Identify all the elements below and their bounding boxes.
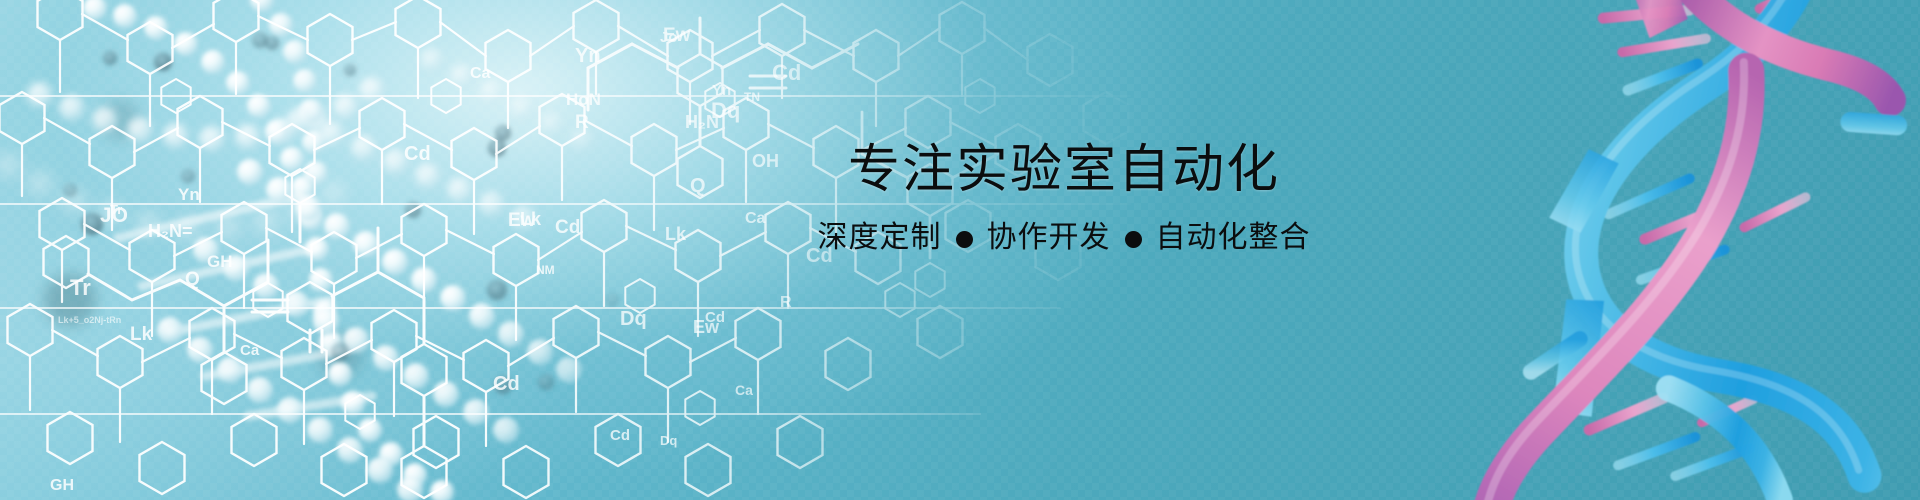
hero-copy: 专注实验室自动化 深度定制 协作开发 自动化整合	[744, 138, 1384, 258]
subtitle-segment-2: 协作开发	[987, 218, 1111, 258]
subtitle-segment-3: 自动化整合	[1156, 218, 1311, 258]
hero-banner: CdYnJoCdHoNEwRDqYnTNCaH₂NLkEwCdQCaOHCdLk…	[0, 0, 1920, 500]
page-title: 专注实验室自动化	[744, 138, 1384, 202]
bullet-separator-icon	[956, 231, 973, 248]
bullet-separator-icon	[1125, 231, 1142, 248]
subtitle-segment-1: 深度定制	[818, 218, 942, 258]
page-subtitle: 深度定制 协作开发 自动化整合	[744, 218, 1384, 258]
